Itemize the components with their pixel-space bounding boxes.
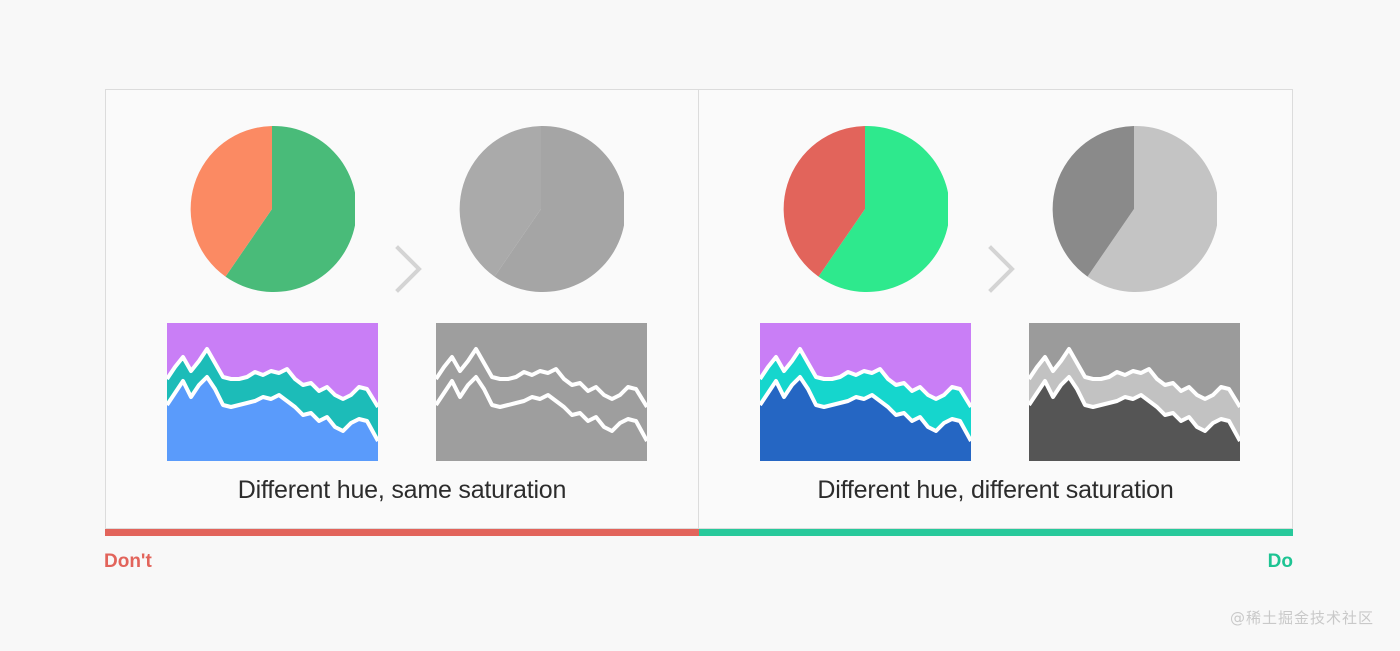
- panel-caption-dont: Different hue, same saturation: [106, 476, 698, 505]
- area-charts-row-dont: [106, 323, 698, 463]
- watermark: @稀土掘金技术社区: [1230, 607, 1374, 628]
- color-area-chart-different-saturation: [760, 323, 971, 461]
- rule-do: [699, 529, 1293, 536]
- area-charts-row-do: [699, 323, 1292, 463]
- color-pie-same-saturation: [189, 114, 355, 304]
- panel-caption-do: Different hue, different saturation: [699, 476, 1292, 505]
- pies-row-do: [699, 114, 1292, 314]
- comparison-board: Different hue, same saturation: [105, 89, 1293, 529]
- color-pie-different-saturation: [782, 114, 948, 304]
- pies-row-dont: [106, 114, 698, 314]
- chevron-right-icon: [985, 244, 1019, 294]
- grayscale-pie-same-saturation: [458, 114, 624, 304]
- grayscale-area-chart-different-saturation: [1029, 323, 1240, 461]
- verdict-label-do: Do: [1160, 551, 1293, 573]
- grayscale-pie-different-saturation: [1051, 114, 1217, 304]
- verdict-label-dont: Don't: [104, 551, 152, 573]
- panel-do: Different hue, different saturation: [699, 89, 1293, 529]
- color-area-chart-same-saturation: [167, 323, 378, 461]
- panel-dont: Different hue, same saturation: [105, 89, 699, 529]
- grayscale-area-chart-same-saturation: [436, 323, 647, 461]
- rule-dont: [105, 529, 699, 536]
- chevron-right-icon: [392, 244, 426, 294]
